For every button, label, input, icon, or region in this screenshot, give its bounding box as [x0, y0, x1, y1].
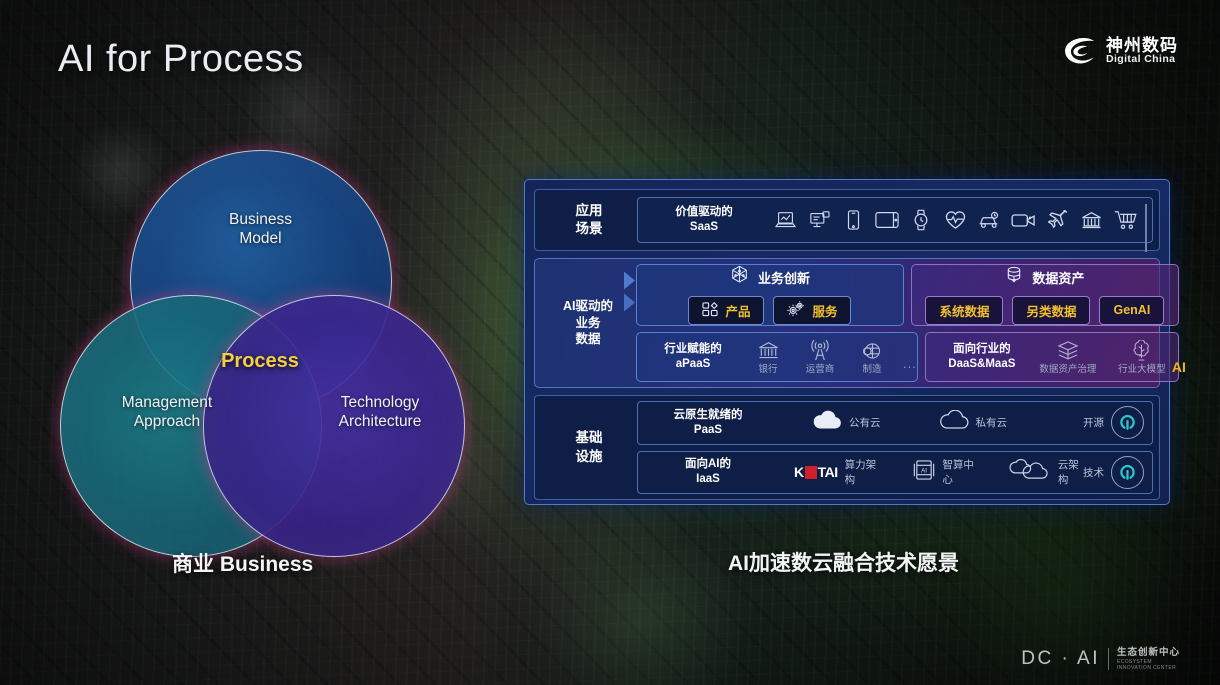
open-source-connector — [1145, 204, 1147, 252]
database-icon — [1005, 266, 1023, 289]
footer-en-line2: INNOVATION CENTER — [1117, 665, 1180, 671]
apaas-title-line2: aPaaS — [651, 357, 735, 372]
iaas-title-line2: IaaS — [652, 472, 764, 487]
kuntai-prefix: K — [794, 464, 804, 480]
ai-layer-body: 业务创新 产品 服务 — [636, 264, 1179, 382]
layered-data-icon — [1032, 339, 1104, 363]
layer-application-scenarios: 应用 场景 价值驱动的 SaaS — [534, 189, 1160, 251]
shopping-cart-icon — [1108, 210, 1142, 230]
pill-label: GenAI — [1113, 303, 1150, 317]
application-icon-strip — [768, 209, 1142, 231]
item-label: 智算中心 — [942, 457, 978, 487]
venn-label-management-approach: Management Approach — [82, 393, 252, 432]
daas-title-line1: 面向行业的 — [940, 342, 1024, 357]
card-header: 数据资产 — [1005, 266, 1084, 289]
end-label: 开源 — [1083, 415, 1104, 430]
smartphone-icon — [836, 210, 870, 230]
item-label: 私有云 — [976, 415, 1008, 430]
item-private-cloud: 私有云 — [939, 410, 1008, 435]
item-label: 公有云 — [849, 415, 881, 430]
pill-label: 另类数据 — [1026, 301, 1076, 320]
mini-item-data-governance: 数据资产治理 — [1032, 339, 1104, 375]
pill-alternative-data[interactable]: 另类数据 — [1012, 296, 1090, 325]
caption-right: AI加速数云融合技术愿景 — [728, 547, 959, 577]
row-industry-apaas: 行业赋能的 aPaaS 银行 运营商 — [636, 332, 918, 382]
pill-service[interactable]: 服务 — [773, 296, 851, 325]
mini-item-operator: 运营商 — [795, 339, 845, 375]
pill-label: 系统数据 — [939, 301, 989, 320]
pill-product[interactable]: 产品 — [688, 296, 764, 325]
apaas-ellipsis: ... — [903, 356, 917, 375]
row-cloud-native-paas: 云原生就绪的 PaaS 公有云 私有云 开源 — [637, 401, 1153, 445]
item-label: 云架构 — [1058, 457, 1083, 487]
swirl-logo-icon — [1063, 36, 1097, 66]
paas-title-line2: PaaS — [652, 423, 764, 438]
layer-label-infrastructure: 基础 设施 — [541, 429, 637, 465]
card-header: 业务创新 — [730, 265, 810, 289]
saas-title-line1: 价值驱动的 — [654, 205, 754, 220]
shapes-icon — [702, 302, 718, 320]
paas-title: 云原生就绪的 PaaS — [652, 408, 764, 438]
footer-divider — [1108, 648, 1109, 670]
slide-root: AI for Process 神州数码 Digital China Busine… — [0, 0, 1220, 685]
card-title: 数据资产 — [1032, 268, 1084, 287]
desktop-monitor-icon — [802, 211, 836, 230]
open-source-end-paas: 开源 — [1083, 406, 1144, 439]
card-title: 业务创新 — [758, 268, 810, 287]
mini-item-industry-llm: 行业大模型 AI — [1106, 339, 1178, 375]
daas-item-group: 数据资产治理 行业大模型 AI — [1032, 339, 1178, 375]
cube-network-icon — [730, 265, 749, 289]
gears-icon — [787, 301, 805, 320]
apaas-title-line1: 行业赋能的 — [651, 342, 735, 357]
mini-item-manufacturing: 制造 — [847, 339, 897, 375]
layer-infrastructure: 基础 设施 云原生就绪的 PaaS 公有云 — [534, 395, 1160, 500]
venn-label-line1: Technology — [300, 393, 460, 412]
mini-item-label: 制造 — [862, 364, 881, 375]
item-ai-computing-center: AI 智算中心 — [913, 457, 978, 487]
layer-label-line1: 应用 — [541, 202, 637, 220]
venn-label-line2: Model — [188, 229, 333, 248]
multi-cloud-icon — [1009, 459, 1051, 486]
footer-logo: DC · AI 生态创新中心 ECOSYSTEM INNOVATION CENT… — [1021, 647, 1180, 671]
caption-left: 商业 Business — [172, 548, 313, 578]
item-public-cloud: 公有云 — [812, 410, 881, 435]
pill-system-data[interactable]: 系统数据 — [925, 296, 1003, 325]
page-title: AI for Process — [58, 38, 304, 81]
open-source-end-iaas: 技术 — [1083, 456, 1144, 489]
end-label: 技术 — [1083, 465, 1104, 480]
item-cloud-architecture: 云架构 — [1009, 457, 1083, 487]
svg-text:AI: AI — [921, 467, 927, 474]
bank-icon — [743, 339, 793, 363]
architecture-panel: 应用 场景 价值驱动的 SaaS — [524, 179, 1170, 505]
infrastructure-body: 云原生就绪的 PaaS 公有云 私有云 开源 — [637, 401, 1153, 494]
daas-title-line2: DaaS&MaaS — [940, 357, 1024, 372]
venn-label-line1: Business — [188, 210, 333, 229]
open-source-icon — [1111, 406, 1144, 439]
car-icon — [972, 211, 1006, 230]
venn-label-technology-architecture: Technology Architecture — [300, 393, 460, 432]
mini-item-label: 数据资产治理 — [1039, 364, 1096, 375]
card-pill-group: 系统数据 另类数据 GenAI — [925, 296, 1164, 325]
pill-genai[interactable]: GenAI — [1099, 296, 1164, 325]
card-data-assets: 数据资产 系统数据 另类数据 GenAI — [911, 264, 1179, 326]
mini-item-label: 银行 — [758, 364, 777, 375]
layer-label-line3: 数据 — [540, 331, 636, 348]
antenna-tower-icon — [795, 339, 845, 363]
card-business-innovation: 业务创新 产品 服务 — [636, 264, 904, 326]
venn-label-line2: Approach — [82, 412, 252, 431]
layer-ai-driven-business-data: AI驱动的 业务 数据 业务创新 — [534, 258, 1160, 388]
laptop-chart-icon — [768, 211, 802, 230]
logo-cn-text: 神州数码 — [1106, 37, 1178, 55]
chevron-arrows-icon — [622, 266, 648, 325]
item-kuntai-compute: K TAI 算力架构 — [794, 457, 879, 487]
tablet-icon — [870, 211, 904, 229]
kuntai-square-mark — [805, 466, 817, 479]
layer-label-line1: 基础 — [541, 429, 637, 447]
footer-cn-text: 生态创新中心 — [1117, 647, 1180, 658]
mini-item-bank: 银行 — [743, 339, 793, 375]
venn-label-line1: Management — [82, 393, 252, 412]
bank-icon — [1074, 211, 1108, 230]
ai-badge: AI — [1172, 360, 1186, 375]
ai-bottom-rows: 行业赋能的 aPaaS 银行 运营商 — [636, 332, 1179, 382]
cloud-outline-icon — [939, 410, 969, 435]
pill-label: 产品 — [725, 301, 750, 320]
brain-tree-icon — [1106, 339, 1178, 363]
layer-label-line2: 场景 — [541, 220, 637, 238]
row-ai-iaas: 面向AI的 IaaS K TAI 算力架构 — [637, 451, 1153, 495]
saas-title: 价值驱动的 SaaS — [654, 205, 754, 235]
application-content: 价值驱动的 SaaS — [637, 197, 1153, 243]
venn-label-business-model: Business Model — [188, 210, 333, 249]
open-source-icon — [1111, 456, 1144, 489]
row-industry-daas-maas: 面向行业的 DaaS&MaaS 数据资产治理 行业大模型 AI — [925, 332, 1179, 382]
kuntai-logo: K TAI — [794, 464, 838, 480]
paas-item-group: 公有云 私有云 — [764, 410, 1083, 435]
gear-globe-icon — [847, 339, 897, 363]
iaas-title: 面向AI的 IaaS — [652, 457, 764, 487]
card-pill-group: 产品 服务 — [688, 296, 851, 325]
apaas-item-group: 银行 运营商 制造 ... — [743, 339, 917, 375]
mini-item-label: 行业大模型 — [1118, 364, 1166, 375]
apaas-title: 行业赋能的 aPaaS — [651, 342, 735, 372]
smartwatch-icon — [904, 209, 938, 231]
iaas-item-group: K TAI 算力架构 AI 智算中心 云架构 — [764, 457, 1083, 487]
airplane-icon — [1040, 210, 1074, 230]
logo-en-text: Digital China — [1106, 54, 1178, 65]
saas-title-line2: SaaS — [654, 220, 754, 235]
venn-diagram: Business Model Management Approach Techn… — [60, 150, 460, 510]
footer-dc-ai-text: DC · AI — [1021, 648, 1100, 670]
layer-label-application: 应用 场景 — [541, 202, 637, 238]
mini-item-label: 运营商 — [806, 364, 835, 375]
venn-label-process: Process — [190, 350, 330, 373]
heartbeat-icon — [938, 210, 972, 230]
pill-label: 服务 — [812, 301, 837, 320]
layer-label-line2: 设施 — [541, 448, 637, 466]
kuntai-suffix: TAI — [818, 464, 838, 480]
item-label: 算力架构 — [845, 457, 880, 487]
ai-top-cards: 业务创新 产品 服务 — [636, 264, 1179, 326]
daas-title: 面向行业的 DaaS&MaaS — [940, 342, 1024, 372]
iaas-title-line1: 面向AI的 — [652, 457, 764, 472]
venn-label-line2: Architecture — [300, 412, 460, 431]
cloud-filled-icon — [812, 410, 842, 435]
brand-logo: 神州数码 Digital China — [1063, 36, 1178, 66]
ai-server-icon: AI — [913, 459, 935, 486]
paas-title-line1: 云原生就绪的 — [652, 408, 764, 423]
video-camera-icon — [1006, 212, 1040, 229]
